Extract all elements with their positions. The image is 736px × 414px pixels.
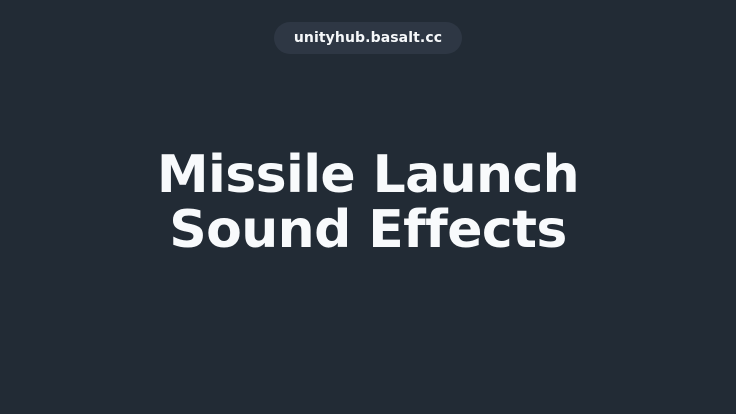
page-title: Missile Launch Sound Effects [68, 148, 668, 258]
hero-section: Missile Launch Sound Effects [68, 148, 668, 258]
badge-container: unityhub.basalt.cc [0, 22, 736, 54]
site-domain-label: unityhub.basalt.cc [294, 31, 442, 45]
page-root: unityhub.basalt.cc Missile Launch Sound … [0, 0, 736, 414]
site-domain-badge[interactable]: unityhub.basalt.cc [274, 22, 462, 54]
